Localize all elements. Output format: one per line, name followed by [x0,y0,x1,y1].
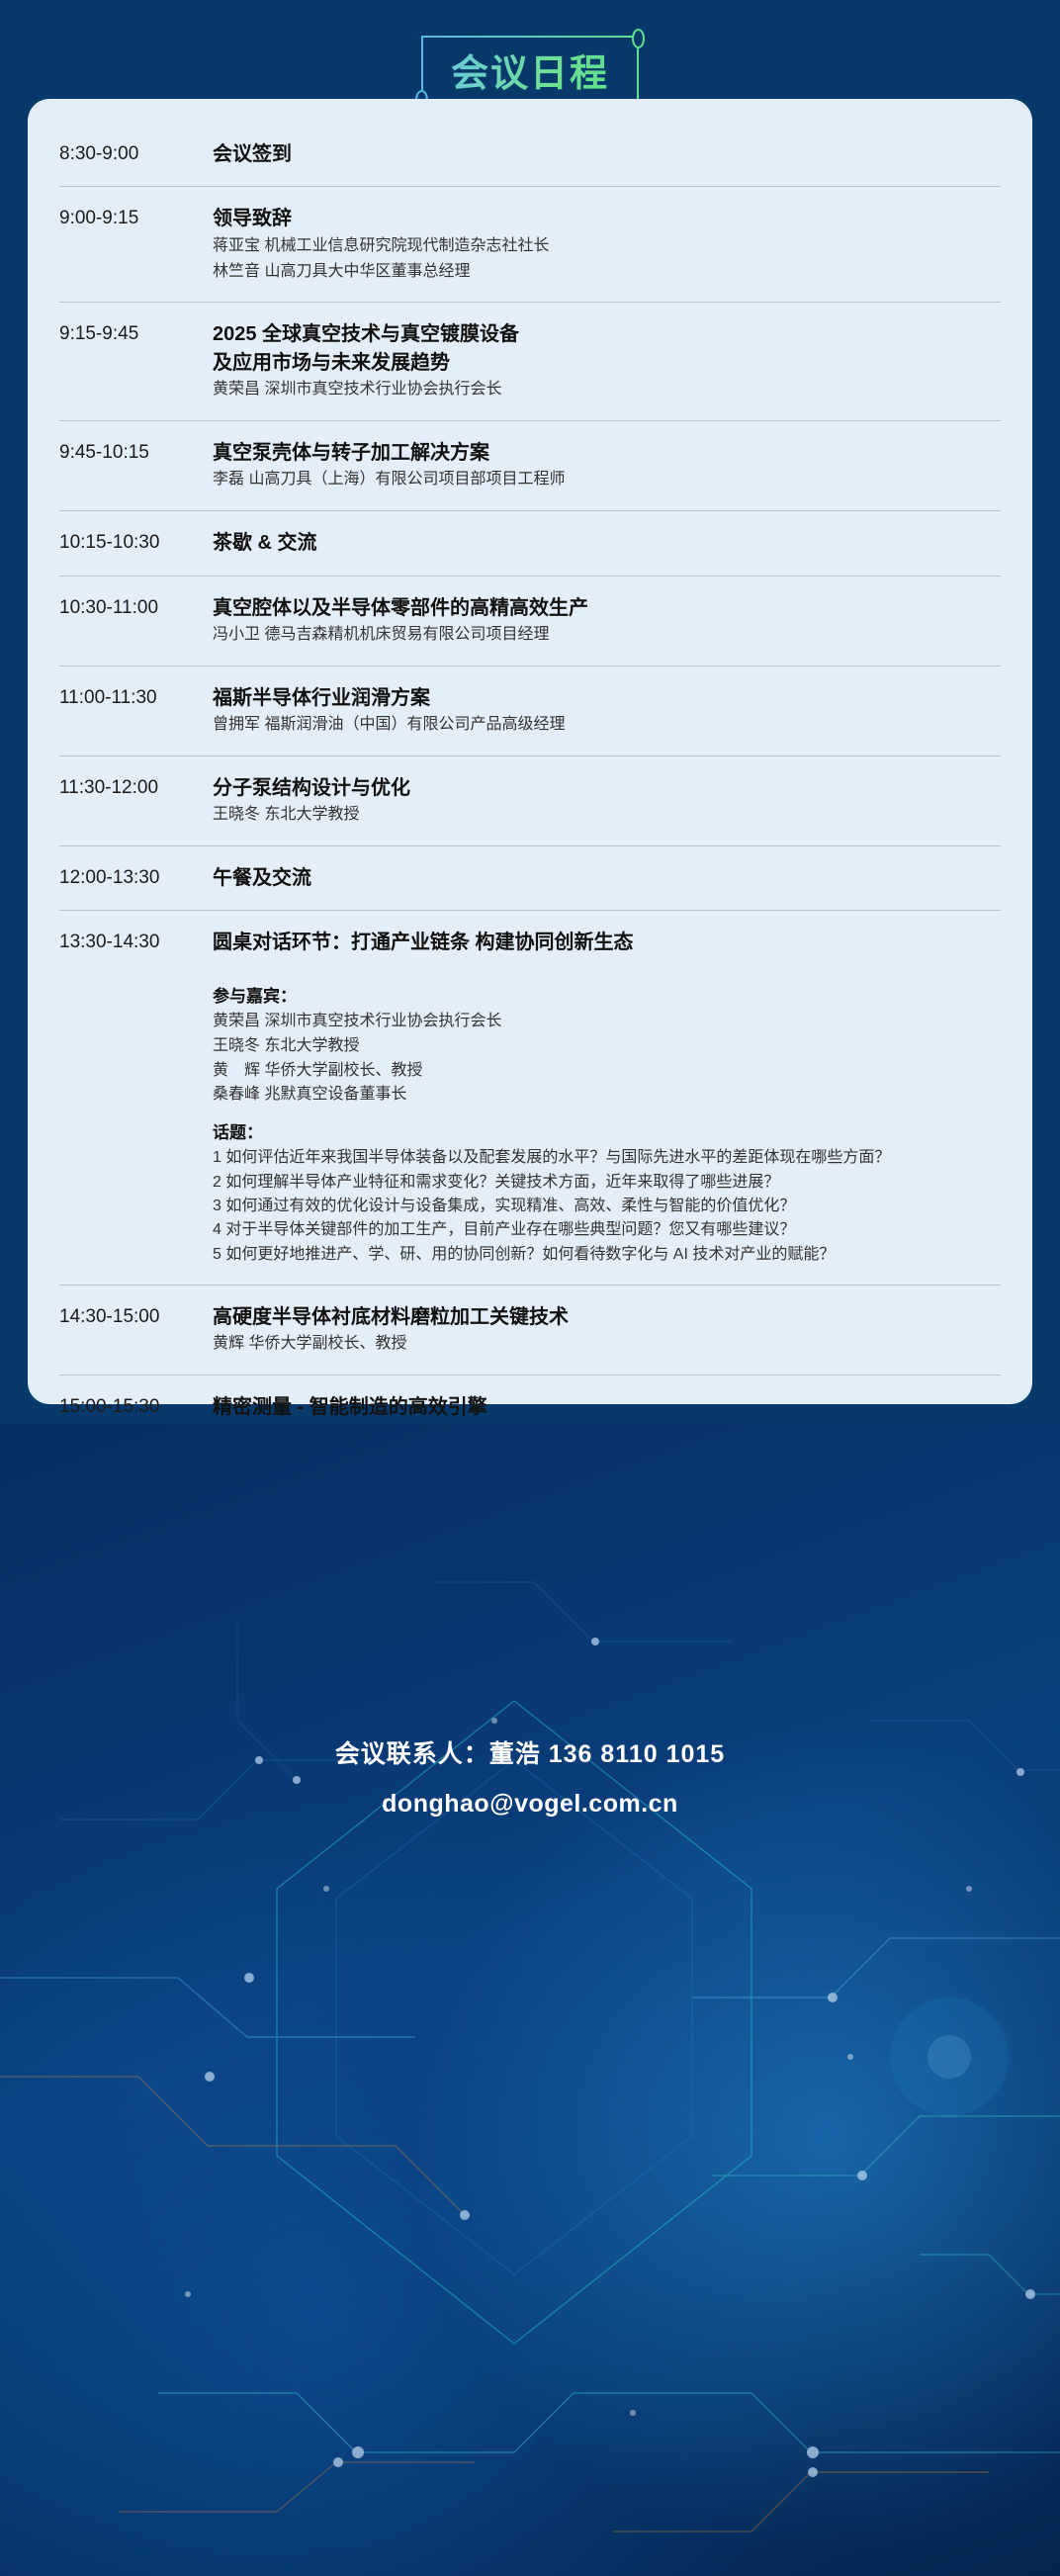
agenda-row-body: 午餐及交流 [183,864,1001,892]
panel-topics-heading: 话题： [213,1119,1001,1146]
panel-topic: 3 如何通过有效的优化设计与设备集成，实现精准、高效、柔性与智能的价值优化？ [213,1195,905,1218]
panel-guest: 黄 辉 华侨大学副校长、教授 [213,1059,1001,1084]
agenda-row-speaker: 林竺音 山高刀具大中华区董事总经理 [213,260,1001,285]
poster-footer: 会议联系人：董浩 136 8110 1015 donghao@vogel.com… [0,1424,1060,2576]
agenda-row-body: 高硬度半导体衬底材料磨粒加工关键技术黄辉 华侨大学副校长、教授 [183,1303,1001,1357]
agenda-row: 12:00-13:30午餐及交流 [59,846,1001,911]
panel-topic: 5 如何更好地推进产、学、研、用的协同创新？如何看待数字化与 AI 技术对产业的… [213,1243,905,1267]
agenda-row-time: 13:30-14:30 [59,929,183,955]
agenda-row: 9:45-10:15真空泵壳体与转子加工解决方案李磊 山高刀具（上海）有限公司项… [59,421,1001,511]
agenda-row-speaker: 黄荣昌 深圳市真空技术行业协会执行会长 [213,378,1001,402]
agenda-row: 14:30-15:00高硬度半导体衬底材料磨粒加工关键技术黄辉 华侨大学副校长、… [59,1286,1001,1376]
agenda-row-speaker: 冯小卫 德马吉森精机机床贸易有限公司项目经理 [213,623,1001,648]
agenda-row-speaker: 曾拥军 福斯润滑油（中国）有限公司产品高级经理 [213,713,1001,738]
agenda-row-speaker: 王晓冬 东北大学教授 [213,803,1001,828]
agenda-row-title: 2025 全球真空技术与真空镀膜设备 及应用市场与未来发展趋势 [213,320,1001,377]
agenda-row-title: 圆桌对话环节：打通产业链条 构建协同创新生态 [213,929,1001,956]
agenda-card: 8:30-9:00会议签到9:00-9:15领导致辞蒋亚宝 机械工业信息研究院现… [28,99,1032,1404]
agenda-row: 9:15-9:452025 全球真空技术与真空镀膜设备 及应用市场与未来发展趋势… [59,303,1001,421]
agenda-row-body: 福斯半导体行业润滑方案曾拥军 福斯润滑油（中国）有限公司产品高级经理 [183,684,1001,738]
footer-email[interactable]: donghao@vogel.com.cn [0,1786,1060,1823]
panel-guest: 桑春峰 兆默真空设备董事长 [213,1083,1001,1108]
panel-topic: 4 对于半导体关键部件的加工生产，目前产业存在哪些典型问题？您又有哪些建议？ [213,1218,905,1242]
agenda-row: 11:30-12:00分子泵结构设计与优化王晓冬 东北大学教授 [59,756,1001,846]
agenda-title-text: 会议日程 [421,36,639,103]
agenda-row-list: 8:30-9:00会议签到9:00-9:15领导致辞蒋亚宝 机械工业信息研究院现… [59,123,1001,1620]
agenda-row-body: 茶歇 & 交流 [183,529,1001,557]
agenda-row-time: 11:30-12:00 [59,774,183,801]
panel-guest: 黄荣昌 深圳市真空技术行业协会执行会长 [213,1010,1001,1034]
agenda-row: 9:00-9:15领导致辞蒋亚宝 机械工业信息研究院现代制造杂志社社长林竺音 山… [59,187,1001,303]
agenda-row-title: 茶歇 & 交流 [213,529,1001,557]
agenda-row-title: 分子泵结构设计与优化 [213,774,1001,802]
panel-guest: 王晓冬 东北大学教授 [213,1034,1001,1059]
roundtable-panel: 参与嘉宾：黄荣昌 深圳市真空技术行业协会执行会长王晓冬 东北大学教授黄 辉 华侨… [213,983,1001,1267]
agenda-row: 10:15-10:30茶歇 & 交流 [59,511,1001,576]
agenda-row-title: 领导致辞 [213,205,1001,232]
agenda-row-body: 领导致辞蒋亚宝 机械工业信息研究院现代制造杂志社社长林竺音 山高刀具大中华区董事… [183,205,1001,284]
poster-header: 会议日程 [0,0,1060,95]
agenda-row-time: 14:30-15:00 [59,1303,183,1330]
agenda-row-time: 10:30-11:00 [59,594,183,621]
poster-page: 会议日程 8:30-9:00会议签到9:00-9:15领导致辞蒋亚宝 机械工业信… [0,0,1060,2576]
agenda-row-body: 真空泵壳体与转子加工解决方案李磊 山高刀具（上海）有限公司项目部项目工程师 [183,439,1001,492]
agenda-row-time: 11:00-11:30 [59,684,183,711]
agenda-row: 11:00-11:30福斯半导体行业润滑方案曾拥军 福斯润滑油（中国）有限公司产… [59,666,1001,756]
panel-topic: 1 如何评估近年来我国半导体装备以及配套发展的水平？与国际先进水平的差距体现在哪… [213,1146,905,1170]
agenda-row-body: 2025 全球真空技术与真空镀膜设备 及应用市场与未来发展趋势黄荣昌 深圳市真空… [183,320,1001,402]
agenda-row-speaker: 蒋亚宝 机械工业信息研究院现代制造杂志社社长 [213,234,1001,259]
agenda-row-body: 圆桌对话环节：打通产业链条 构建协同创新生态参与嘉宾：黄荣昌 深圳市真空技术行业… [183,929,1001,1267]
agenda-row: 8:30-9:00会议签到 [59,123,1001,187]
agenda-row-time: 15:00-15:30 [59,1393,183,1420]
agenda-row-time: 12:00-13:30 [59,864,183,891]
panel-guests-heading: 参与嘉宾： [213,983,1001,1010]
circuit-board-graphic-icon [0,1424,1060,2576]
footer-contact-block: 会议联系人：董浩 136 8110 1015 donghao@vogel.com… [0,1736,1060,1822]
agenda-row-speaker: 黄辉 华侨大学副校长、教授 [213,1332,1001,1357]
agenda-row-speaker: 李磊 山高刀具（上海）有限公司项目部项目工程师 [213,468,1001,492]
agenda-row-title: 真空泵壳体与转子加工解决方案 [213,439,1001,467]
agenda-row-body: 真空腔体以及半导体零部件的高精高效生产冯小卫 德马吉森精机机床贸易有限公司项目经… [183,594,1001,648]
agenda-row-time: 10:15-10:30 [59,529,183,556]
agenda-row-body: 分子泵结构设计与优化王晓冬 东北大学教授 [183,774,1001,828]
agenda-row-title: 真空腔体以及半导体零部件的高精高效生产 [213,594,1001,622]
agenda-title-badge: 会议日程 [421,36,639,103]
agenda-row-title: 会议签到 [213,140,1001,168]
agenda-row: 10:30-11:00真空腔体以及半导体零部件的高精高效生产冯小卫 德马吉森精机… [59,577,1001,666]
agenda-row-time: 9:15-9:45 [59,320,183,347]
agenda-row-body: 会议签到 [183,140,1001,168]
agenda-row-title: 精密测量 - 智能制造的高效引擎 [213,1393,1001,1421]
agenda-row: 13:30-14:30圆桌对话环节：打通产业链条 构建协同创新生态参与嘉宾：黄荣… [59,911,1001,1286]
agenda-row-title: 高硬度半导体衬底材料磨粒加工关键技术 [213,1303,1001,1331]
agenda-row-time: 8:30-9:00 [59,140,183,167]
panel-topic: 2 如何理解半导体产业特征和需求变化？关键技术方面，近年来取得了哪些进展？ [213,1171,905,1195]
agenda-row-title: 午餐及交流 [213,864,1001,892]
agenda-row-title: 福斯半导体行业润滑方案 [213,684,1001,712]
agenda-row-time: 9:45-10:15 [59,439,183,466]
footer-contact-line: 会议联系人：董浩 136 8110 1015 [0,1736,1060,1774]
agenda-row-time: 9:00-9:15 [59,205,183,231]
